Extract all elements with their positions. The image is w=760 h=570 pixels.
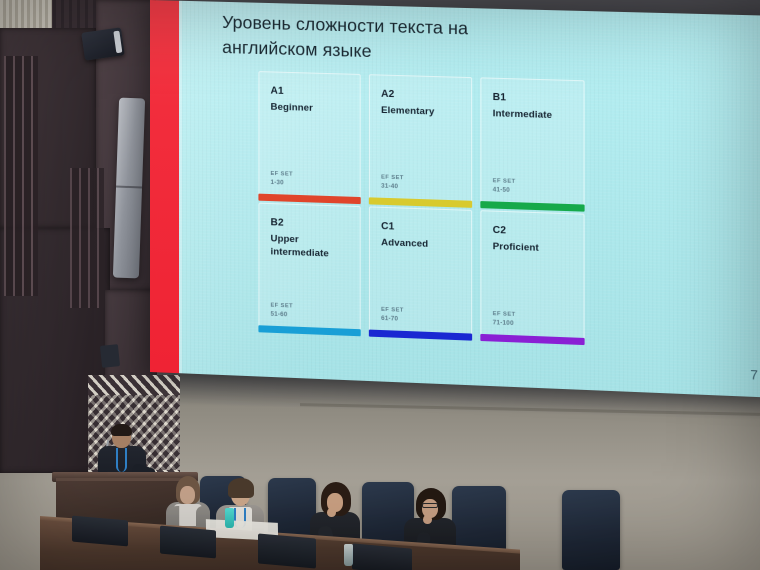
- level-color-bar: [258, 325, 360, 336]
- efset-label: EF SET: [493, 178, 516, 185]
- teal-bottle: [225, 508, 234, 528]
- level-code: C1: [381, 221, 460, 235]
- wood-slats: [70, 168, 104, 308]
- efset-label: EF SET: [271, 171, 294, 178]
- level-name: Advanced: [381, 237, 460, 253]
- empty-chair: [562, 490, 620, 570]
- level-code: A1: [271, 85, 349, 98]
- slide-number: 7: [750, 367, 758, 383]
- cefr-card-a2: A2 Elementary EF SET 31-40: [369, 74, 472, 204]
- wood-slats: [4, 56, 38, 296]
- cefr-card-row-bottom: B2 Upper intermediate EF SET 51-60 C1 Ad…: [258, 203, 731, 347]
- efset-range: 61-70: [381, 315, 404, 323]
- efset-block: EF SET 41-50: [493, 178, 516, 194]
- eyeglasses: [422, 503, 438, 508]
- cefr-card-b1: B1 Intermediate EF SET 41-50: [480, 77, 584, 207]
- efset-block: EF SET 1-30: [271, 171, 294, 187]
- level-name: Beginner: [271, 102, 349, 117]
- cefr-card-row-top: A1 Beginner EF SET 1-30 A2 Elementary EF…: [258, 71, 731, 212]
- projection-screen: Уровень сложности текста на английском я…: [150, 0, 760, 398]
- laptop[interactable]: [72, 516, 128, 547]
- cefr-card-a1: A1 Beginner EF SET 1-30: [258, 71, 360, 200]
- efset-block: EF SET 51-60: [271, 303, 294, 319]
- efset-label: EF SET: [271, 303, 294, 310]
- efset-range: 41-50: [493, 186, 516, 194]
- wall-speaker-box: [81, 27, 125, 60]
- efset-range: 31-40: [381, 183, 404, 191]
- level-name: Proficient: [493, 241, 572, 257]
- efset-block: EF SET 71-100: [493, 311, 516, 327]
- level-name: Intermediate: [493, 108, 572, 123]
- water-bottle: [344, 544, 353, 566]
- efset-label: EF SET: [381, 175, 404, 182]
- efset-block: EF SET 31-40: [381, 175, 404, 191]
- level-name: Elementary: [381, 105, 460, 120]
- slide-accent-bar: [150, 0, 179, 389]
- level-code: C2: [493, 225, 572, 239]
- level-name: Upper intermediate: [271, 233, 349, 262]
- presentation-slide: Уровень сложности текста на английском я…: [150, 0, 760, 398]
- efset-range: 51-60: [271, 311, 294, 319]
- efset-range: 71-100: [493, 319, 516, 327]
- efset-label: EF SET: [381, 307, 404, 314]
- efset-block: EF SET 61-70: [381, 307, 404, 323]
- slide-title: Уровень сложности текста на английском я…: [222, 10, 569, 69]
- level-color-bar: [369, 330, 472, 341]
- cefr-card-b2: B2 Upper intermediate EF SET 51-60: [258, 203, 360, 333]
- small-speaker: [100, 344, 120, 368]
- cefr-level-card-grid: A1 Beginner EF SET 1-30 A2 Elementary EF…: [258, 71, 731, 353]
- laptop[interactable]: [258, 533, 316, 568]
- cefr-card-c1: C1 Advanced EF SET 61-70: [369, 206, 472, 336]
- level-code: B2: [271, 217, 349, 231]
- level-code: B1: [493, 92, 572, 105]
- efset-label: EF SET: [493, 311, 516, 318]
- laptop[interactable]: [160, 526, 216, 559]
- laptop[interactable]: [352, 543, 412, 570]
- level-code: A2: [381, 89, 460, 102]
- conference-room-photo: Уровень сложности текста на английском я…: [0, 0, 760, 570]
- efset-range: 1-30: [271, 179, 294, 187]
- level-color-bar: [480, 334, 584, 345]
- cefr-card-c2: C2 Proficient EF SET 71-100: [480, 210, 584, 341]
